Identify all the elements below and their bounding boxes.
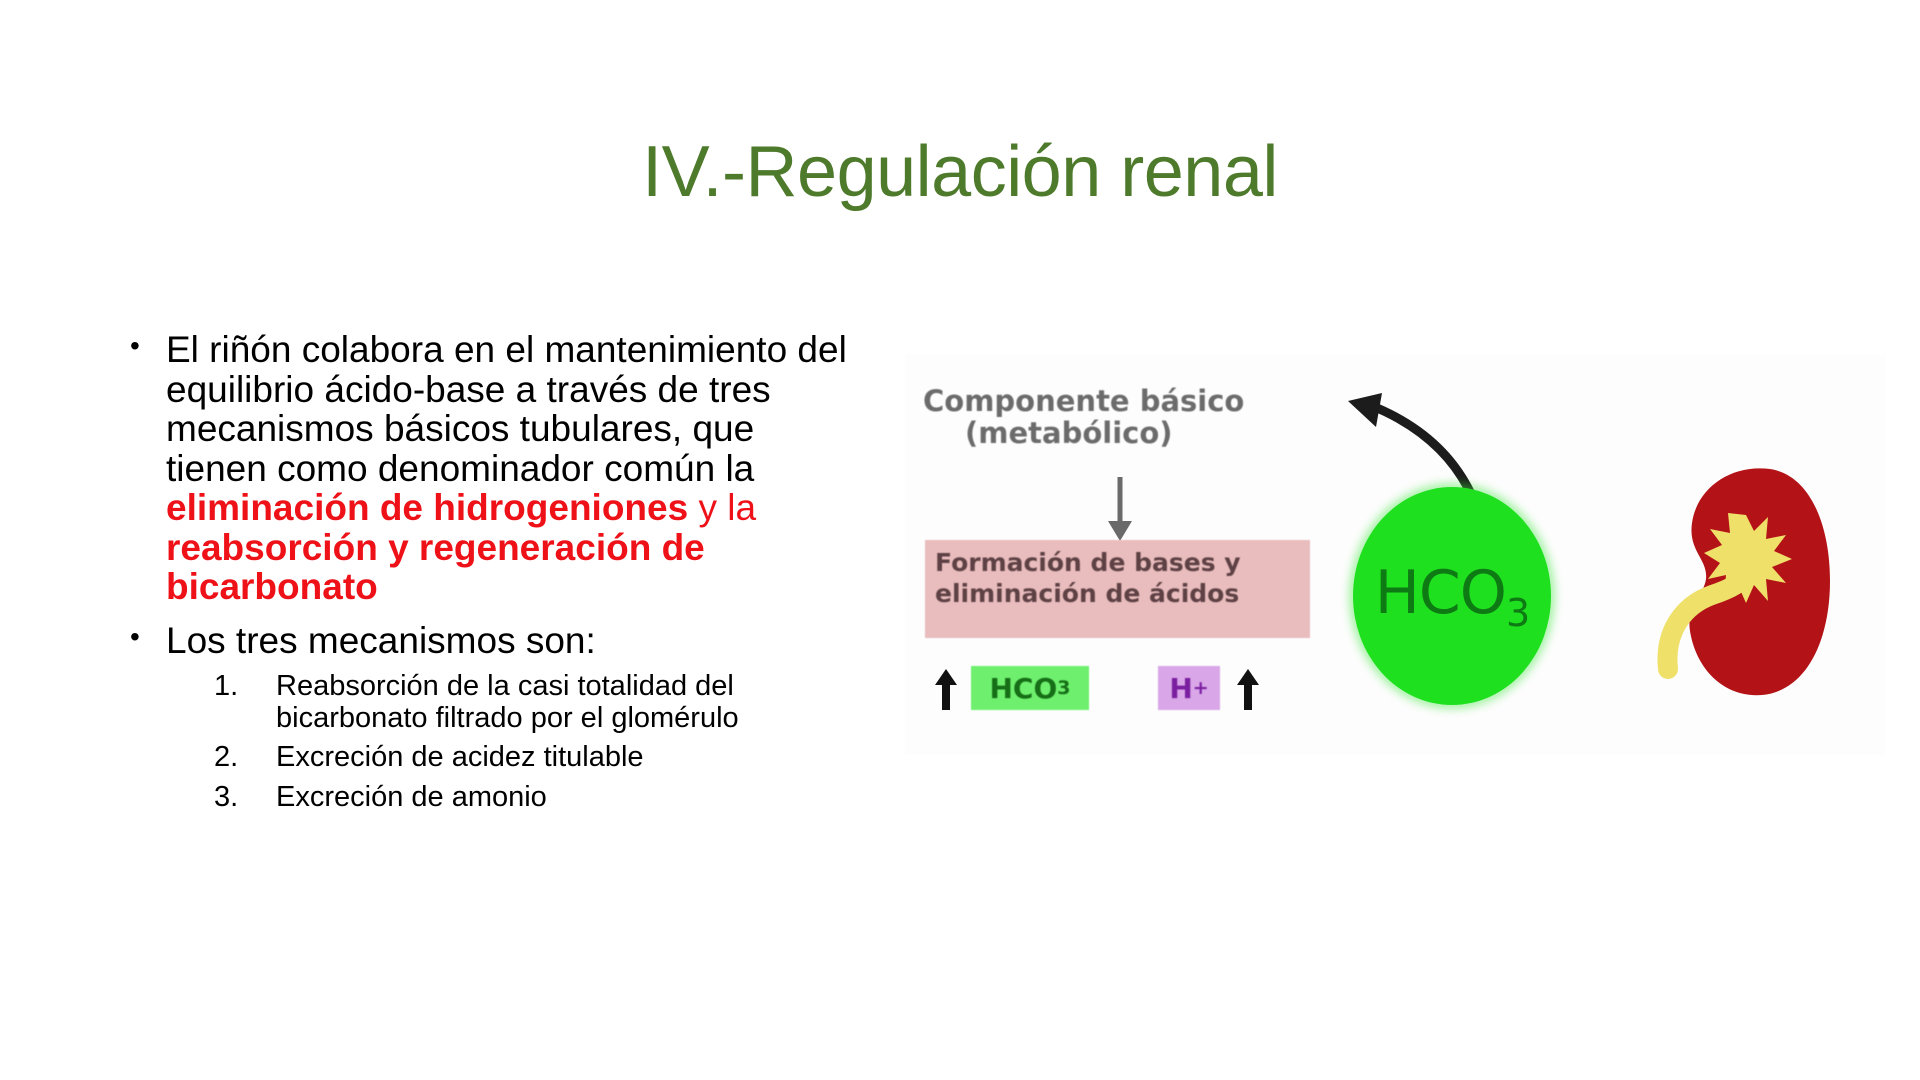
page-title: IV.-Regulación renal xyxy=(0,136,1920,208)
bicarbonate-circle-text: HCO xyxy=(1375,558,1506,628)
bullet-item-three-mechanisms: Los tres mecanismos son: 1. Reabsorción … xyxy=(118,621,858,814)
bicarbonate-circle-label: HCO3 xyxy=(1375,558,1529,635)
bullet-run-2: y xyxy=(688,487,727,528)
content-text-column: El riñón colabora en el mantenimiento de… xyxy=(118,330,858,828)
list-item-number: 2. xyxy=(214,742,254,774)
kidney-icon xyxy=(1650,455,1835,705)
list-item-number: 1. xyxy=(214,671,254,703)
pink-panel-line-2: eliminación de ácidos xyxy=(935,578,1310,609)
pink-panel-line-1: Formación de bases y xyxy=(935,547,1310,578)
chip-proton: H+ xyxy=(1158,666,1220,710)
figure-caption-line-2: (metabólico) xyxy=(923,417,1343,449)
up-arrow-icon xyxy=(1235,668,1261,712)
bicarbonate-circle: HCO3 xyxy=(1353,487,1551,705)
down-arrow-icon xyxy=(1105,475,1135,543)
figure-caption-basic-component: Componente básico (metabólico) xyxy=(923,385,1343,450)
bullet-item-kidney-role: El riñón colabora en el mantenimiento de… xyxy=(118,330,858,607)
list-item-label: Excreción de acidez titulable xyxy=(276,741,644,773)
pink-panel-text: Formación de bases y eliminación de ácid… xyxy=(935,547,1310,610)
bullet-run-1: eliminación de hidrogeniones xyxy=(166,487,688,528)
bicarbonate-circle-subscript: 3 xyxy=(1506,591,1529,635)
bullet-run-3: la xyxy=(727,487,756,528)
figure-chip-row: HCO3 H+ xyxy=(923,660,1323,720)
numbered-list: 1. Reabsorción de la casi totalidad del … xyxy=(166,671,858,815)
bullet-label-three-mechanisms: Los tres mecanismos son: xyxy=(166,620,596,661)
list-item-number: 3. xyxy=(214,782,254,814)
chip-proton-superscript: + xyxy=(1193,677,1209,699)
slide-root: IV.-Regulación renal El riñón colabora e… xyxy=(0,0,1920,1080)
renal-regulation-figure: Componente básico (metabólico) Formación… xyxy=(905,355,1885,755)
chip-bicarbonate-label: HCO xyxy=(989,672,1057,705)
list-item: 1. Reabsorción de la casi totalidad del … xyxy=(166,671,858,735)
chip-bicarbonate-subscript: 3 xyxy=(1057,677,1070,699)
chip-proton-label: H xyxy=(1169,672,1192,705)
bullet-run-4: reabsorción y regeneración de bicarbonat… xyxy=(166,527,705,608)
up-arrow-icon xyxy=(933,668,959,712)
list-item-label: Reabsorción de la casi totalidad del bic… xyxy=(276,670,739,734)
figure-caption-line-1: Componente básico xyxy=(923,384,1244,418)
list-item: 3. Excreción de amonio xyxy=(166,782,858,814)
chip-bicarbonate: HCO3 xyxy=(971,666,1089,710)
list-item: 2. Excreción de acidez titulable xyxy=(166,742,858,774)
bullet-run-0: El riñón colabora en el mantenimiento de… xyxy=(166,329,847,489)
list-item-label: Excreción de amonio xyxy=(276,781,547,813)
bullet-list: El riñón colabora en el mantenimiento de… xyxy=(118,330,858,814)
